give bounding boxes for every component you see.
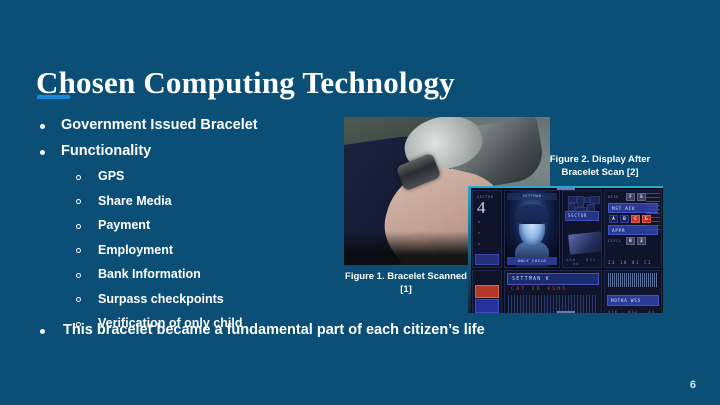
slide: Chosen Computing Technology Government I…	[0, 0, 720, 405]
parameter-chip[interactable]: 2	[637, 237, 646, 245]
bullet-circle-icon	[76, 290, 98, 313]
list-item-label: Surpass checkpoints	[98, 288, 224, 311]
bullet-list: Government Issued Bracelet Functionality…	[36, 113, 336, 337]
bullet-disc-icon	[40, 320, 63, 342]
list-item-label: GPS	[98, 165, 124, 188]
list-item: Functionality	[36, 139, 336, 165]
status-indicator	[475, 299, 499, 313]
signal-waveform	[608, 273, 658, 287]
list-item: GPS	[36, 165, 336, 190]
schematic-cell: SECTOR 456 - 032 - 44	[562, 190, 602, 268]
sector-chip[interactable]: SECTOR	[565, 211, 599, 221]
list-item-label: This bracelet became a fundamental part …	[63, 319, 485, 341]
list-item-label: Payment	[98, 214, 150, 237]
signal-cell: MOTKA W55 456 - 032 - 44	[604, 270, 662, 313]
panel-bottom-nub	[557, 311, 575, 313]
figure-1-caption: Figure 1. Bracelet Scanned [1]	[344, 270, 468, 296]
list-item-label: Employment	[98, 239, 173, 262]
list-item-summary: This bracelet became a fundamental part …	[36, 319, 485, 342]
name-bar: SETTMAN K	[507, 273, 599, 285]
footer-code: 456 - 032 - 44	[608, 310, 655, 313]
portrait-bottom-label: ONLY CHILD	[507, 257, 557, 265]
list-item-label: Share Media	[98, 190, 172, 213]
page-title: Chosen Computing Technology	[36, 65, 455, 101]
list-item: Government Issued Bracelet	[36, 113, 336, 139]
parameter-chip[interactable]: B	[620, 215, 629, 223]
panel-accent-edge	[468, 188, 471, 313]
alert-indicator	[475, 285, 499, 298]
parameter-label: CIFCL	[608, 239, 624, 243]
identity-cell: SETTMAN K CAT ID 4SH6	[504, 270, 602, 313]
list-item: Bank Information	[36, 263, 336, 288]
sector-status-bar	[475, 254, 499, 265]
alert-cell	[472, 270, 502, 313]
tick-marks-icon	[646, 193, 660, 265]
portrait-top-label: SETTMAN	[507, 193, 557, 200]
bullet-circle-icon	[76, 216, 98, 239]
waveform-graph	[508, 295, 598, 313]
list-item: Payment	[36, 214, 336, 239]
figure-2-caption: Figure 2. Display After Bracelet Scan [2…	[536, 153, 664, 179]
parameter-chip[interactable]: C	[631, 215, 640, 223]
bullet-circle-icon	[76, 167, 98, 190]
bullet-disc-icon	[40, 140, 61, 165]
sector-cell: SECTOR 4	[472, 190, 502, 268]
page-number: 6	[690, 379, 696, 391]
list-item-label: Functionality	[61, 139, 151, 164]
portrait-cell: SETTMAN ONLY CHILD	[504, 190, 560, 268]
parameter-chip[interactable]: B	[626, 237, 635, 245]
panel-top-nub	[557, 188, 575, 190]
device-thumbnail	[568, 231, 602, 254]
lower-bar[interactable]: MOTKA W55	[607, 295, 659, 306]
alert-text: CAT ID 4SH6	[511, 286, 567, 292]
list-item-label: Government Issued Bracelet	[61, 113, 258, 138]
title-accent-bar	[37, 95, 70, 99]
sector-value: 4	[477, 199, 501, 216]
schematic-footer-code: 456 - 032 - 44	[566, 258, 601, 266]
bullet-disc-icon	[40, 114, 61, 139]
parameter-chip[interactable]: F	[626, 193, 635, 201]
bullet-circle-icon	[76, 241, 98, 264]
parameter-chip[interactable]: 5	[637, 193, 646, 201]
list-item: Share Media	[36, 190, 336, 215]
bullet-circle-icon	[76, 192, 98, 215]
list-item: Surpass checkpoints	[36, 288, 336, 313]
parameter-label: DISE	[608, 195, 624, 199]
parameter-chip[interactable]: A	[609, 215, 618, 223]
bullet-circle-icon	[76, 265, 98, 288]
list-item: Employment	[36, 239, 336, 264]
figure-2-image: SECTOR 4 SETTMAN ONLY CHILD	[468, 186, 663, 313]
parameters-cell: DISE F 5 MST ACU A B C D APPR CIFCL B 2 …	[604, 190, 662, 268]
list-item-label: Bank Information	[98, 263, 201, 286]
